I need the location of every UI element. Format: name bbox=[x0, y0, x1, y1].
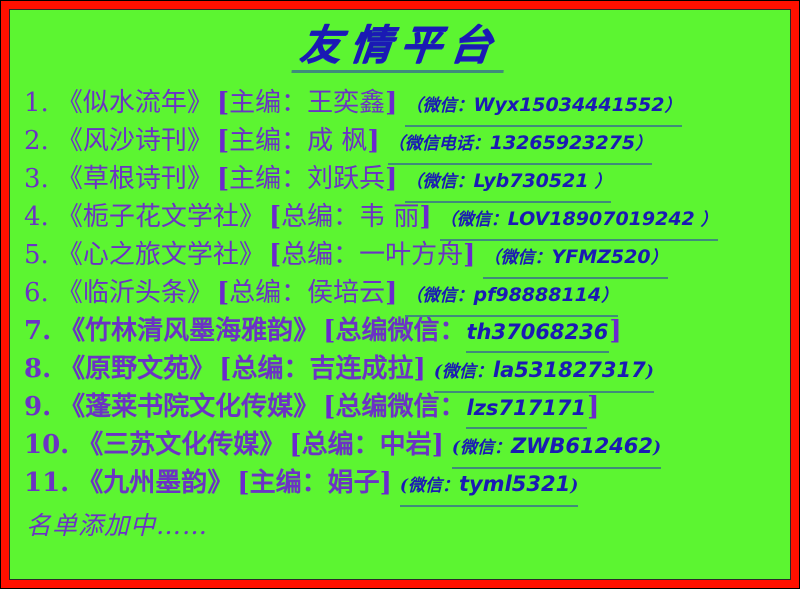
bracket-open: [ bbox=[269, 236, 281, 274]
list-item-editor-name: 王奕鑫 bbox=[307, 84, 385, 122]
contact-label: 微信： bbox=[460, 438, 511, 458]
contact-label: 微信： bbox=[442, 362, 493, 382]
paren-close: ) bbox=[653, 438, 661, 458]
list-item-publication-name: 《草根诗刊》 bbox=[57, 160, 213, 198]
contact-label: 微信： bbox=[408, 476, 459, 496]
list-item-editor-name: 韦 丽 bbox=[359, 198, 419, 236]
list-item-editor-name: 一叶方舟 bbox=[359, 236, 463, 274]
list-item: 9.《蓬莱书院文化传媒》[总编微信：lzs717171] bbox=[24, 388, 790, 426]
list-item-contact[interactable]: （微信：Wyx15034441552） bbox=[405, 86, 681, 127]
list-item-publication-name: 《风沙诗刊》 bbox=[57, 122, 213, 160]
list-item-wechat-id[interactable]: ZWB612462 bbox=[511, 434, 653, 458]
contact-label: 微信： bbox=[500, 248, 551, 268]
list-item-wechat-id[interactable]: th37068236 bbox=[466, 313, 610, 353]
list-item-editor-name: 娟子 bbox=[328, 464, 380, 502]
list-item-wechat-id[interactable]: YFMZ520 bbox=[551, 246, 650, 268]
footer-note: 名单添加中…… bbox=[26, 506, 790, 542]
list-item: 2.《风沙诗刊》[主编：成 枫]（微信电话：13265923275） bbox=[24, 122, 790, 160]
list-item-editor-name: 中岩 bbox=[380, 426, 432, 464]
list-item: 3.《草根诗刊》[主编：刘跃兵]（微信：Lyb730521 ） bbox=[24, 160, 790, 198]
list-item-contact[interactable]: (微信：la531827317) bbox=[434, 351, 654, 393]
platform-list: 1.《似水流年》[主编：王奕鑫]（微信：Wyx15034441552）2.《风沙… bbox=[10, 82, 790, 502]
list-item-publication-name: 《三苏文化传媒》 bbox=[77, 426, 285, 464]
list-item: 6.《临沂头条》[总编：侯培云]（微信：pf98888114） bbox=[24, 274, 790, 312]
list-item-number: 10. bbox=[24, 426, 69, 464]
list-item-number: 4. bbox=[24, 198, 49, 236]
paren-close: ） bbox=[589, 172, 612, 192]
bracket-close: ] bbox=[385, 274, 397, 312]
paren-close: ） bbox=[635, 134, 652, 154]
bracket-open: [ bbox=[269, 198, 281, 236]
list-item-publication-name: 《心之旅文学社》 bbox=[57, 236, 265, 274]
list-item-publication-name: 《似水流年》 bbox=[57, 84, 213, 122]
list-item-wechat-id[interactable]: pf98888114 bbox=[473, 284, 601, 306]
list-item-contact[interactable]: （微信电话：13265923275） bbox=[388, 124, 652, 165]
list-item-publication-name: 《栀子花文学社》 bbox=[57, 198, 265, 236]
list-item: 8.《原野文苑》[总编：吉连成拉](微信：la531827317) bbox=[24, 350, 790, 388]
poster-frame: 友情平台 1.《似水流年》[主编：王奕鑫]（微信：Wyx15034441552）… bbox=[0, 0, 800, 589]
page-title: 友情平台 bbox=[291, 24, 508, 73]
list-item-wechat-id[interactable]: la531827317 bbox=[493, 358, 646, 382]
list-item-role-label: 总编： bbox=[281, 198, 359, 236]
paren-open: （ bbox=[405, 96, 422, 116]
contact-label: 微信： bbox=[422, 286, 473, 306]
list-item-contact[interactable]: (微信：tyml5321) bbox=[400, 465, 578, 507]
paren-close: ) bbox=[646, 362, 654, 382]
bracket-close: ] bbox=[380, 464, 392, 502]
list-item: 11.《九州墨韵》[主编：娟子](微信：tyml5321) bbox=[24, 464, 790, 502]
list-item-contact[interactable]: (微信：ZWB612462) bbox=[452, 427, 661, 469]
list-item-role-label: 总编微信： bbox=[335, 388, 465, 426]
list-item-wechat-id[interactable]: Lyb730521 bbox=[473, 170, 588, 192]
contact-label: 微信： bbox=[457, 210, 508, 230]
list-item-editor-name: 刘跃兵 bbox=[307, 160, 385, 198]
list-item-wechat-id[interactable]: 13265923275 bbox=[490, 132, 635, 154]
paren-close: ） bbox=[665, 96, 682, 116]
paren-close: ） bbox=[651, 248, 668, 268]
bracket-open: [ bbox=[289, 426, 301, 464]
list-item-role-label: 主编： bbox=[250, 464, 328, 502]
list-item-number: 3. bbox=[24, 160, 49, 198]
bracket-open: [ bbox=[217, 84, 229, 122]
bracket-open: [ bbox=[237, 464, 249, 502]
list-item: 4.《栀子花文学社》[总编：韦 丽]（微信：LOV18907019242 ） bbox=[24, 198, 790, 236]
bracket-close: ] bbox=[609, 312, 621, 350]
list-item-wechat-id[interactable]: LOV18907019242 bbox=[508, 208, 695, 230]
paren-open: ( bbox=[400, 476, 408, 496]
list-item-number: 9. bbox=[24, 388, 51, 426]
bracket-close: ] bbox=[587, 388, 599, 426]
list-item-number: 11. bbox=[24, 464, 69, 502]
contact-label: 微信： bbox=[422, 172, 473, 192]
list-item-role-label: 总编： bbox=[231, 350, 309, 388]
bracket-open: [ bbox=[323, 388, 335, 426]
bracket-open: [ bbox=[219, 350, 231, 388]
list-item-publication-name: 《蓬莱书院文化传媒》 bbox=[59, 388, 319, 426]
list-item-publication-name: 《临沂头条》 bbox=[57, 274, 213, 312]
list-item-role-label: 主编： bbox=[229, 84, 307, 122]
list-item-contact[interactable]: （微信：Lyb730521 ） bbox=[405, 162, 611, 203]
paren-open: （ bbox=[388, 134, 405, 154]
paren-close: ） bbox=[695, 210, 718, 230]
list-item-wechat-id[interactable]: Wyx15034441552 bbox=[473, 94, 664, 116]
poster-canvas: 友情平台 1.《似水流年》[主编：王奕鑫]（微信：Wyx15034441552）… bbox=[9, 9, 791, 580]
list-item-role-label: 总编： bbox=[229, 274, 307, 312]
bracket-close: ] bbox=[367, 122, 379, 160]
paren-open: （ bbox=[440, 210, 457, 230]
list-item-number: 7. bbox=[24, 312, 51, 350]
bracket-close: ] bbox=[419, 198, 431, 236]
list-item-editor-name: 侯培云 bbox=[307, 274, 385, 312]
paren-open: （ bbox=[483, 248, 500, 268]
list-item-number: 5. bbox=[24, 236, 49, 274]
list-item-number: 6. bbox=[24, 274, 49, 312]
paren-open: （ bbox=[405, 286, 422, 306]
paren-open: ( bbox=[434, 362, 442, 382]
list-item-publication-name: 《竹林清风墨海雅韵》 bbox=[59, 312, 319, 350]
list-item-number: 2. bbox=[24, 122, 49, 160]
list-item: 1.《似水流年》[主编：王奕鑫]（微信：Wyx15034441552） bbox=[24, 84, 790, 122]
bracket-open: [ bbox=[217, 160, 229, 198]
list-item-contact[interactable]: （微信：pf98888114） bbox=[405, 276, 618, 317]
bracket-close: ] bbox=[414, 350, 426, 388]
list-item-publication-name: 《原野文苑》 bbox=[59, 350, 215, 388]
paren-close: ) bbox=[570, 476, 578, 496]
list-item-role-label: 总编微信： bbox=[335, 312, 465, 350]
contact-label: 微信电话： bbox=[405, 134, 490, 154]
bracket-open: [ bbox=[217, 122, 229, 160]
list-item-number: 1. bbox=[24, 84, 49, 122]
title-container: 友情平台 bbox=[10, 10, 790, 82]
paren-open: （ bbox=[405, 172, 422, 192]
bracket-open: [ bbox=[323, 312, 335, 350]
bracket-open: [ bbox=[217, 274, 229, 312]
bracket-close: ] bbox=[463, 236, 475, 274]
paren-open: ( bbox=[452, 438, 460, 458]
list-item-role-label: 主编： bbox=[229, 160, 307, 198]
bracket-close: ] bbox=[385, 84, 397, 122]
list-item-contact[interactable]: （微信：LOV18907019242 ） bbox=[440, 200, 718, 241]
bracket-close: ] bbox=[432, 426, 444, 464]
list-item: 5.《心之旅文学社》[总编：一叶方舟]（微信：YFMZ520） bbox=[24, 236, 790, 274]
list-item-role-label: 总编： bbox=[302, 426, 380, 464]
list-item: 10.《三苏文化传媒》[总编：中岩](微信：ZWB612462) bbox=[24, 426, 790, 464]
list-item-editor-name: 吉连成拉 bbox=[310, 350, 414, 388]
list-item-role-label: 总编： bbox=[281, 236, 359, 274]
list-item: 7.《竹林清风墨海雅韵》[总编微信：th37068236] bbox=[24, 312, 790, 350]
list-item-wechat-id[interactable]: tyml5321 bbox=[459, 472, 570, 496]
paren-close: ） bbox=[601, 286, 618, 306]
bracket-close: ] bbox=[385, 160, 397, 198]
list-item-editor-name: 成 枫 bbox=[307, 122, 367, 160]
list-item-number: 8. bbox=[24, 350, 51, 388]
list-item-publication-name: 《九州墨韵》 bbox=[77, 464, 233, 502]
list-item-wechat-id[interactable]: lzs717171 bbox=[466, 389, 588, 429]
list-item-contact[interactable]: （微信：YFMZ520） bbox=[483, 238, 667, 279]
list-item-role-label: 主编： bbox=[229, 122, 307, 160]
contact-label: 微信： bbox=[422, 96, 473, 116]
